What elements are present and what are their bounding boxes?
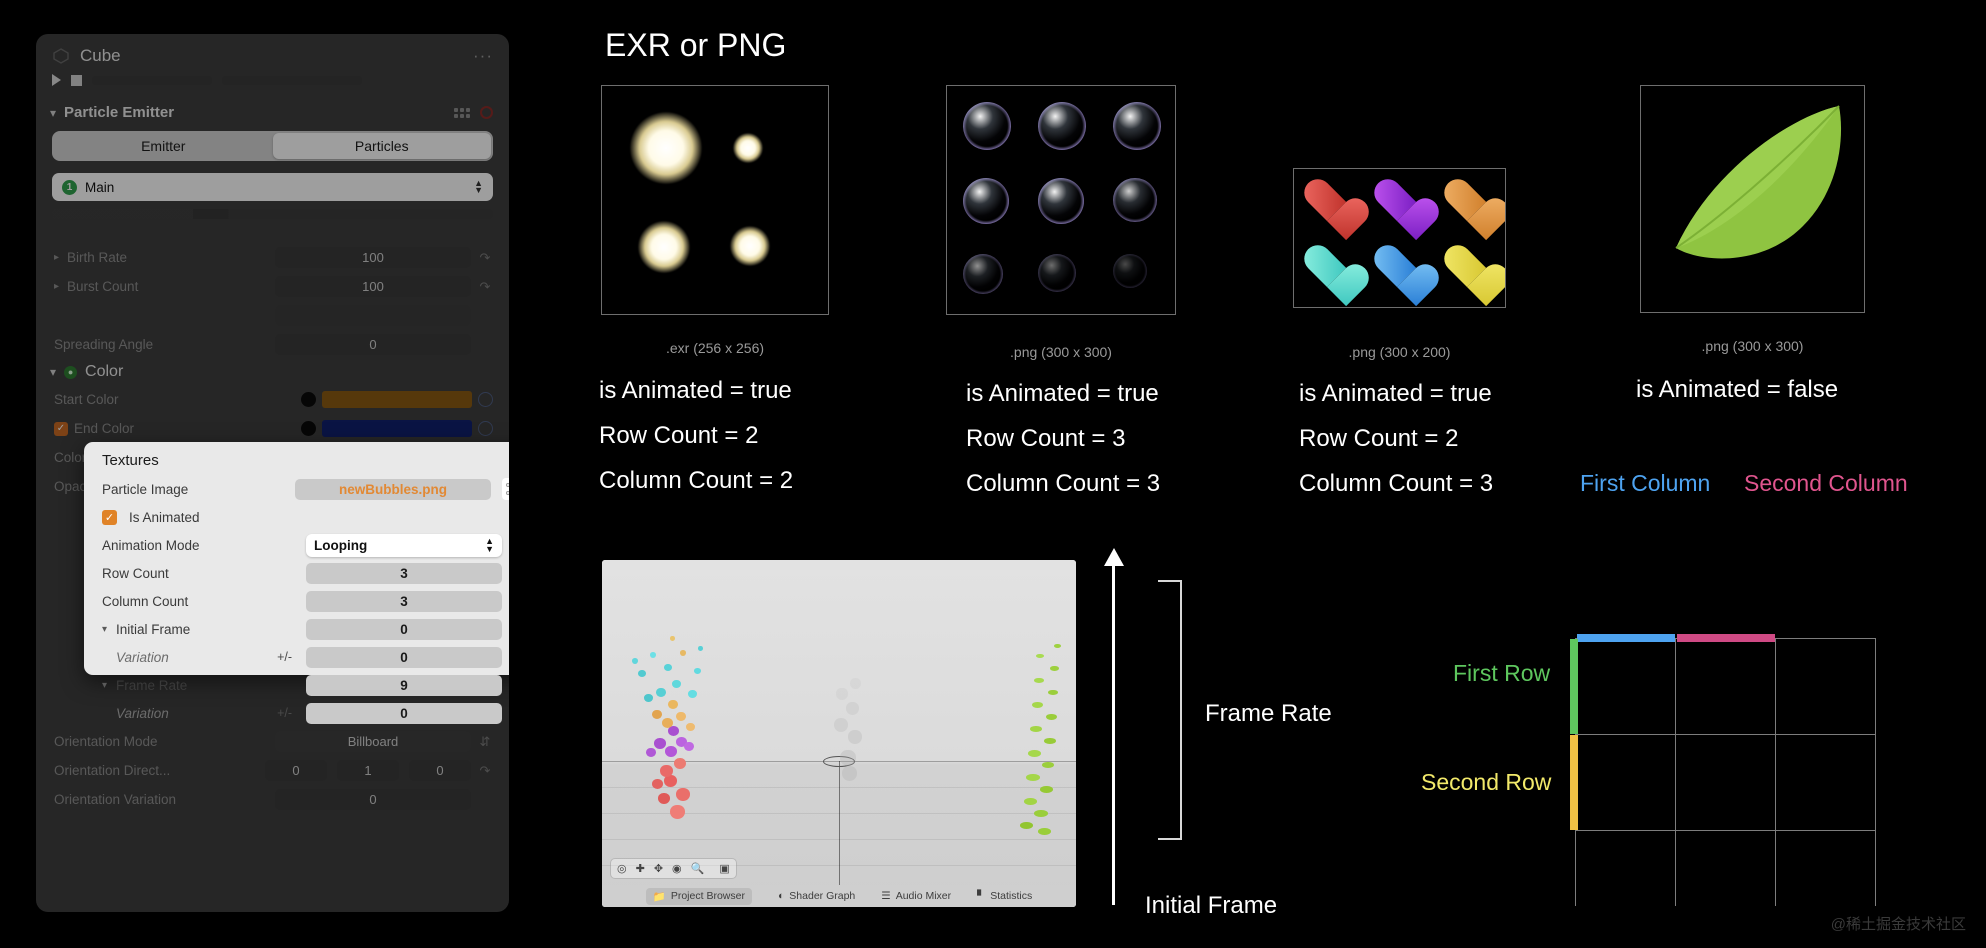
line-is-animated: is Animated = true	[599, 368, 793, 413]
color-row-end-color[interactable]: ✓ End Color	[36, 414, 509, 443]
line-is-animated: is Animated = true	[966, 371, 1160, 416]
texture-card-lines: is Animated = false	[1636, 367, 1838, 412]
vector-z[interactable]: 0	[409, 760, 471, 781]
row-column-diagram	[1575, 638, 1875, 906]
texture-card-lines: is Animated = true Row Count = 3 Column …	[966, 371, 1160, 506]
inspector-panel: Cube ··· ▾ Particle Emitter Emitter Par	[36, 34, 509, 912]
timeline-arrow	[1112, 557, 1115, 905]
textures-row-animation-mode[interactable]: Animation Mode Looping ▲▼	[84, 531, 509, 559]
vector-y[interactable]: 1	[337, 760, 399, 781]
initial-frame-label: Initial Frame	[1145, 892, 1277, 920]
dice-grid-icon[interactable]	[502, 478, 509, 500]
layer-value: Main	[85, 180, 114, 195]
orbit-icon[interactable]: ◎	[617, 862, 627, 875]
tab-statistics[interactable]: ▘ Statistics	[977, 890, 1032, 902]
property-row-burst-count[interactable]: ▸ Burst Count 100 ↷	[36, 272, 509, 301]
property-value[interactable]: 0	[275, 334, 471, 355]
tab-label: Statistics	[990, 890, 1032, 902]
property-value[interactable]: 100	[275, 276, 471, 297]
revert-icon[interactable]: ↷	[477, 763, 493, 779]
checkbox-end-color[interactable]: ✓	[54, 422, 68, 436]
stop-icon[interactable]	[71, 75, 82, 86]
property-label: Burst Count	[67, 279, 138, 294]
texture-card-lines: is Animated = true Row Count = 2 Column …	[599, 368, 793, 503]
tab-label: Project Browser	[671, 890, 745, 902]
revert-icon[interactable]: ↷	[508, 509, 509, 525]
property-row-orientation-direction[interactable]: Orientation Direct... 0 1 0 ↷	[36, 756, 509, 785]
line-row-count: Row Count = 2	[599, 413, 793, 458]
move-icon[interactable]: ✥	[654, 862, 663, 875]
object-name: Cube	[80, 46, 121, 66]
tab-particles[interactable]: Particles	[273, 133, 492, 159]
initial-frame-variation-value[interactable]: 0	[306, 647, 502, 668]
frame-rate-value[interactable]: 9	[306, 675, 502, 696]
mixer-icon: ☰	[881, 890, 890, 902]
row-count-value[interactable]: 3	[306, 563, 502, 584]
tab-emitter[interactable]: Emitter	[54, 133, 273, 159]
row-label: Animation Mode	[102, 538, 200, 553]
chevron-right-icon[interactable]: ▸	[54, 252, 59, 263]
label-first-row: First Row	[1453, 660, 1550, 687]
emitter-particles-segmented-control[interactable]: Emitter Particles	[52, 131, 493, 161]
property-row-spreading-angle[interactable]: Spreading Angle 0	[36, 330, 509, 359]
vector-x[interactable]: 0	[265, 760, 327, 781]
second-row-marker	[1570, 735, 1578, 830]
viewport-bottom-tabs[interactable]: 📁 Project Browser ◐ Shader Graph ☰ Audio…	[602, 885, 1076, 907]
checkbox-is-animated[interactable]: ✓	[102, 510, 117, 525]
viewport-screenshot: ◎ ✚ ✥ ◉ 🔍 ▣ 📁 Project Browser ◐ Shader G…	[602, 560, 1076, 907]
property-label: Orientation Variation	[54, 792, 176, 807]
row-label: Column Count	[102, 594, 188, 609]
line-row-count: Row Count = 2	[1299, 416, 1493, 461]
textures-row-frame-rate[interactable]: ▾ Frame Rate 9 ↷	[84, 671, 509, 699]
graph-icon: ◐	[778, 890, 784, 902]
property-label: Orientation Mode	[54, 734, 158, 749]
ghost-label	[222, 76, 362, 85]
helper-text-blurred	[52, 209, 493, 219]
row-label: Particle Image	[102, 482, 188, 497]
revert-icon[interactable]: ↷	[508, 677, 509, 693]
grid-line	[1575, 734, 1875, 735]
revert-icon[interactable]: ↷	[477, 250, 493, 266]
play-icon[interactable]	[52, 74, 61, 86]
line-column-count: Column Count = 3	[966, 461, 1160, 506]
property-label: Spreading Angle	[54, 337, 153, 352]
alpha-swatch[interactable]	[301, 392, 316, 407]
playback-row	[36, 70, 509, 96]
ellipsis-icon[interactable]: ···	[473, 46, 493, 66]
color-section-title: Color	[85, 363, 123, 381]
layer-select[interactable]: 1 Main ▲▼	[52, 173, 493, 201]
textures-row-initial-frame-variation[interactable]: Variation +/- 0	[84, 643, 509, 671]
texture-size-caption: .exr (256 x 256)	[601, 340, 829, 356]
chevron-down-icon[interactable]: ▾	[102, 624, 107, 635]
line-column-count: Column Count = 2	[599, 458, 793, 503]
color-swatch-start[interactable]	[322, 391, 472, 408]
textures-row-particle-image[interactable]: Particle Image newBubbles.png	[84, 475, 509, 503]
texture-card-sparkles: .exr (256 x 256) is Animated = true Row …	[601, 85, 829, 315]
initial-frame-value[interactable]: 0	[306, 619, 502, 640]
chevron-down-icon[interactable]: ▾	[102, 680, 107, 691]
grid-line	[1675, 638, 1676, 906]
folder-icon: 📁	[653, 890, 666, 903]
row-label: Is Animated	[129, 510, 200, 525]
second-column-marker	[1677, 634, 1775, 642]
heart-sheet-image: [data-name="heart-sheet-image"] .heart:n…	[1293, 168, 1506, 308]
column-count-value[interactable]: 3	[306, 591, 502, 612]
property-row-orientation-mode[interactable]: Orientation Mode Billboard ⇵	[36, 727, 509, 756]
line-is-animated: is Animated = true	[1299, 371, 1493, 416]
chevron-right-icon[interactable]: ▸	[54, 281, 59, 292]
viewport-toolbar[interactable]: ◎ ✚ ✥ ◉ 🔍 ▣	[610, 858, 737, 879]
textures-row-column-count[interactable]: Column Count 3 ↷	[84, 587, 509, 615]
chevron-down-icon: ▾	[50, 366, 56, 378]
chevron-updown-icon[interactable]: ▲▼	[474, 180, 483, 194]
texture-size-caption: .png (300 x 200)	[1293, 344, 1506, 360]
tab-shader-graph[interactable]: ◐ Shader Graph	[778, 890, 855, 902]
textures-row-initial-frame[interactable]: ▾ Initial Frame 0	[84, 615, 509, 643]
chevron-updown-icon[interactable]: ⇵	[477, 734, 493, 750]
property-label: End Color	[74, 421, 134, 436]
camera-icon[interactable]: ▣	[719, 862, 729, 875]
property-value[interactable]: 0	[275, 789, 471, 810]
color-swatch-end[interactable]	[322, 420, 472, 437]
chevron-updown-icon[interactable]: ▲▼	[485, 537, 494, 553]
revert-icon[interactable]: ↷	[508, 593, 509, 609]
textures-row-frame-rate-variation[interactable]: Variation +/- 0	[84, 699, 509, 727]
property-label: Orientation Direct...	[54, 763, 170, 778]
label-second-row: Second Row	[1421, 769, 1551, 796]
color-picker-icon[interactable]	[478, 392, 493, 407]
screenshot-root: Cube ··· ▾ Particle Emitter Emitter Par	[0, 0, 1986, 948]
label-second-column: Second Column	[1744, 470, 1908, 497]
animation-mode-value: Looping	[314, 538, 367, 553]
zoom-target-icon[interactable]: ◉	[672, 862, 682, 875]
row-label: Variation	[102, 650, 169, 665]
grid-icon[interactable]	[454, 108, 470, 118]
color-section-header[interactable]: ▾ ● Color	[36, 359, 509, 385]
page-title: EXR or PNG	[605, 27, 786, 64]
particle-image-value[interactable]: newBubbles.png	[295, 479, 491, 500]
pan-icon[interactable]: ✚	[636, 862, 645, 875]
tab-label: Shader Graph	[789, 890, 855, 902]
texture-card-leaf: .png (300 x 300) is Animated = false	[1640, 85, 1865, 313]
property-value[interactable]: Billboard	[275, 731, 471, 752]
watermark: @稀土掘金技术社区	[1831, 913, 1966, 934]
inspector-header: Cube ···	[36, 34, 509, 70]
ghost-label	[92, 76, 212, 85]
texture-card-lines: is Animated = true Row Count = 2 Column …	[1299, 371, 1493, 506]
revert-icon[interactable]: ↷	[477, 279, 493, 295]
line-column-count: Column Count = 3	[1299, 461, 1493, 506]
bubble-sheet-image	[946, 85, 1176, 315]
tab-project-browser[interactable]: 📁 Project Browser	[646, 888, 752, 905]
first-row-marker	[1570, 639, 1578, 734]
line-row-count: Row Count = 3	[966, 416, 1160, 461]
alpha-swatch[interactable]	[301, 421, 316, 436]
property-row-birth-rate[interactable]: ▸ Birth Rate 100 ↷	[36, 243, 509, 272]
row-label: Frame Rate	[116, 678, 187, 693]
plus-minus-label: +/-	[277, 706, 292, 720]
property-label: Start Color	[54, 392, 119, 407]
chevron-down-icon: ▾	[50, 107, 56, 119]
plus-minus-label: +/-	[277, 650, 292, 664]
grid-line	[1875, 638, 1876, 906]
row-label: Variation	[102, 706, 169, 721]
property-value	[275, 305, 471, 326]
property-label: Birth Rate	[67, 250, 127, 265]
texture-card-bubbles: .png (300 x 300) is Animated = true Row …	[946, 85, 1176, 315]
first-column-marker	[1577, 634, 1675, 642]
magnifier-icon[interactable]: 🔍	[691, 862, 705, 875]
section-title: Particle Emitter	[64, 104, 174, 121]
revert-icon[interactable]: ↷	[508, 565, 509, 581]
record-icon[interactable]	[480, 106, 493, 119]
enabled-indicator-icon[interactable]: ●	[64, 366, 77, 379]
frame-rate-label: Frame Rate	[1205, 700, 1332, 728]
color-picker-icon[interactable]	[478, 421, 493, 436]
texture-card-hearts: [data-name="heart-sheet-image"] .heart:n…	[1293, 168, 1506, 308]
particle-emitter-section-header[interactable]: ▾ Particle Emitter	[36, 96, 509, 125]
texture-size-caption: .png (300 x 300)	[1640, 338, 1865, 354]
grid-line	[1775, 638, 1776, 906]
line-is-animated: is Animated = false	[1636, 367, 1838, 412]
color-row-start-color[interactable]: Start Color	[36, 385, 509, 414]
leaf-shape-icon	[1641, 86, 1865, 313]
textures-title: Textures	[84, 450, 509, 475]
property-row-orientation-variation[interactable]: Orientation Variation 0	[36, 785, 509, 814]
stats-icon: ▘	[977, 890, 985, 902]
animation-mode-select[interactable]: Looping ▲▼	[306, 534, 502, 557]
textures-row-row-count[interactable]: Row Count 3 ↷	[84, 559, 509, 587]
label-first-column: First Column	[1580, 470, 1710, 497]
leaf-image	[1640, 85, 1865, 313]
textures-row-is-animated[interactable]: ✓ Is Animated ↷	[84, 503, 509, 531]
frame-rate-bracket	[1158, 580, 1182, 840]
cube-icon	[52, 47, 70, 65]
textures-panel: Textures Particle Image newBubbles.png ✓…	[84, 442, 509, 675]
property-row-blank	[36, 301, 509, 330]
property-value[interactable]: 100	[275, 247, 471, 268]
frame-rate-variation-value[interactable]: 0	[306, 703, 502, 724]
layer-badge: 1	[62, 180, 77, 195]
tab-label: Audio Mixer	[896, 890, 951, 902]
tab-audio-mixer[interactable]: ☰ Audio Mixer	[881, 890, 951, 902]
row-label: Initial Frame	[116, 622, 190, 637]
texture-size-caption: .png (300 x 300)	[946, 344, 1176, 360]
row-label: Row Count	[102, 566, 169, 581]
sparkle-sheet-image	[601, 85, 829, 315]
grid-line	[1575, 830, 1875, 831]
